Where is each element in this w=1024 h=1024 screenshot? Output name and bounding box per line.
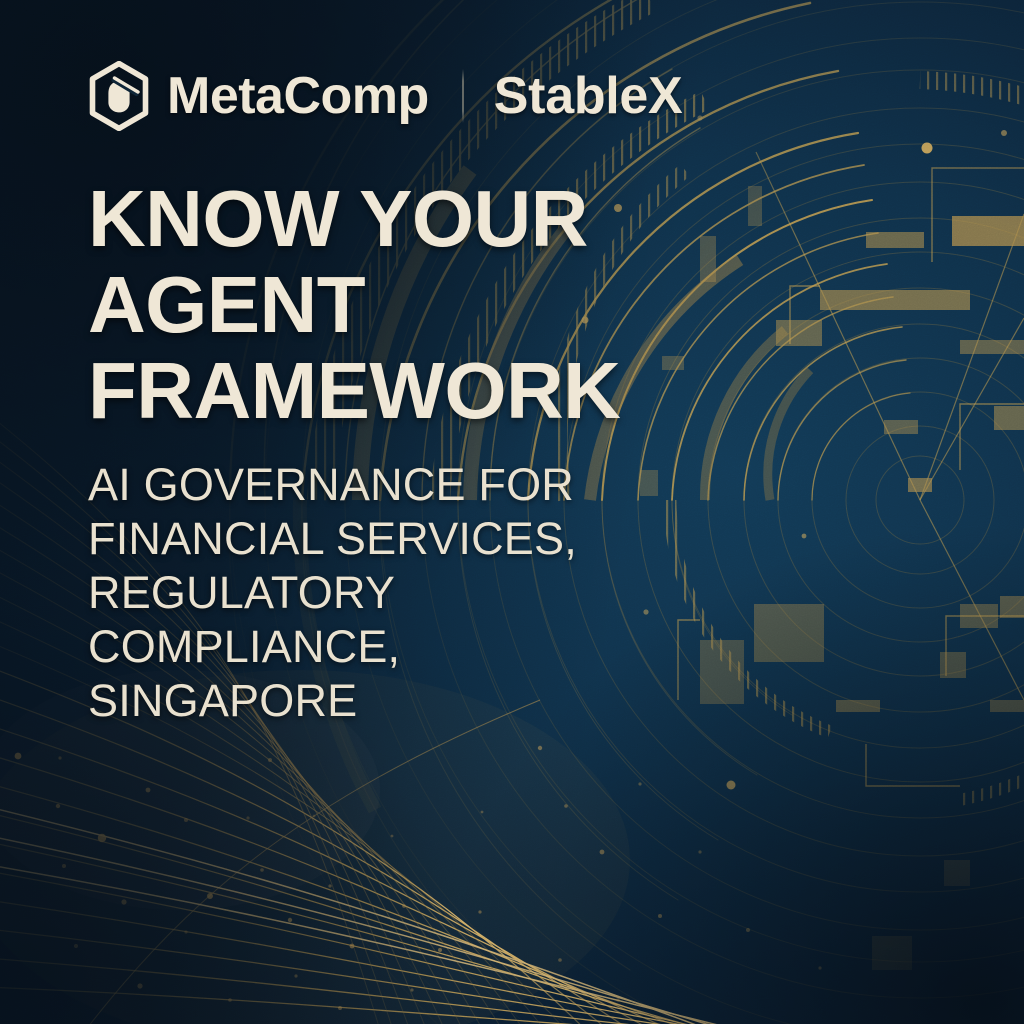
subtitle-line-3: REGULATORY [88,566,608,620]
subtitle-line-1: AI GOVERNANCE FOR [88,458,608,512]
brand-name-stablex[interactable]: StableX [494,70,683,122]
subtitle-line-2: FINANCIAL SERVICES, [88,512,608,566]
metacomp-hexagon-shield-icon [88,61,150,131]
brand-header: MetaComp StableX [88,55,682,137]
headline-line-2: AGENT [88,262,648,348]
subtitle-line-4: COMPLIANCE, [88,620,608,674]
brand-divider [462,69,464,123]
headline-line-3: FRAMEWORK [88,348,648,434]
subtitle-block: AI GOVERNANCE FOR FINANCIAL SERVICES, RE… [88,458,608,728]
brand-name-metacomp[interactable]: MetaComp [167,70,429,122]
subtitle-line-5: SINGAPORE [88,674,608,728]
poster-canvas: MetaComp StableX KNOW YOUR AGENT FRAMEWO… [0,0,1024,1024]
headline-block: KNOW YOUR AGENT FRAMEWORK [88,176,648,434]
headline-line-1: KNOW YOUR [88,176,648,262]
